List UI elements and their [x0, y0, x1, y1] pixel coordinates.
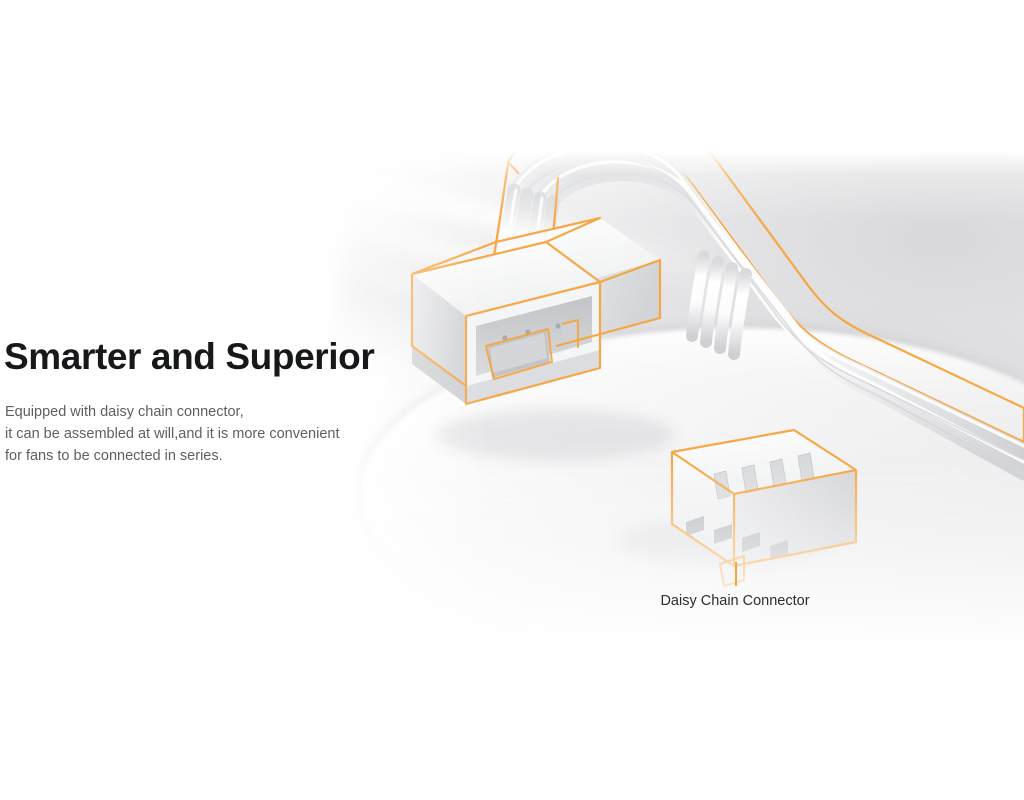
- description-line: Equipped with daisy chain connector,: [5, 401, 339, 423]
- description-text: Equipped with daisy chain connector, it …: [5, 401, 339, 467]
- callout-leader-line: [735, 562, 737, 586]
- product-photo: [300, 150, 1024, 650]
- description-line: for fans to be connected in series.: [5, 445, 339, 467]
- description-line: it can be assembled at will,and it is mo…: [5, 423, 339, 445]
- callout-label: Daisy Chain Connector: [647, 593, 823, 609]
- page-title: Smarter and Superior: [4, 336, 374, 378]
- cable-illustration: [300, 150, 1024, 650]
- promo-banner: Smarter and Superior Equipped with daisy…: [0, 0, 1024, 800]
- male-connector: [412, 218, 660, 404]
- connector-shadow: [435, 409, 675, 461]
